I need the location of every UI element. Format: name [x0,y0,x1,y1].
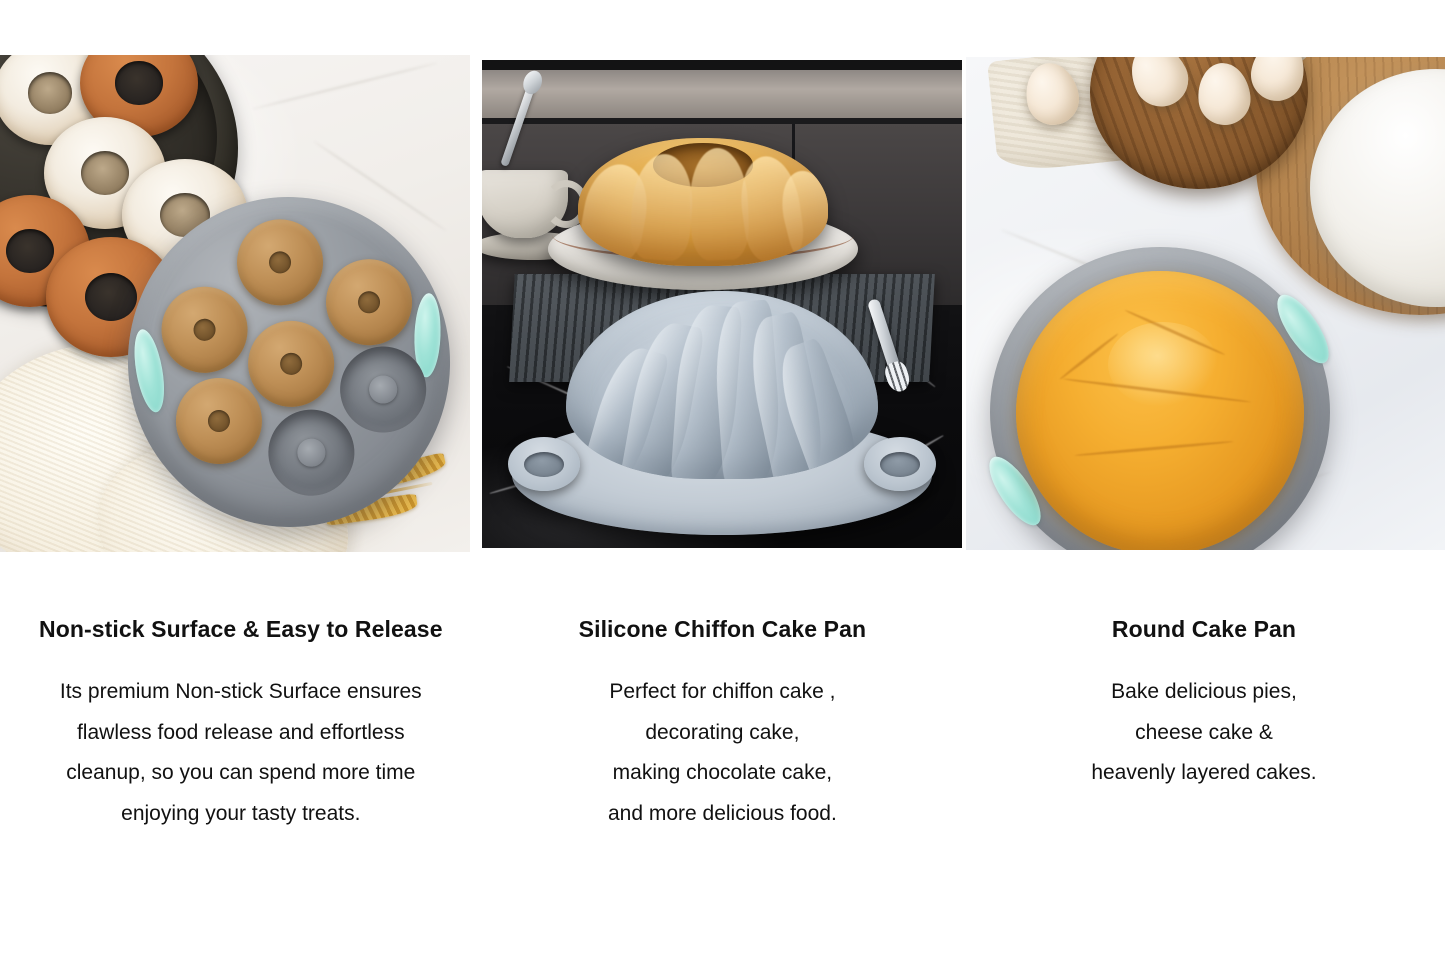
description-line: Bake delicious pies, [977,672,1431,713]
donut-cavity-filled [323,256,415,348]
baked-bundt-cake [578,138,828,266]
baked-round-cake [1016,271,1304,550]
donut-hole [28,72,73,114]
round-cake-pan-photo [966,57,1445,550]
mold-handle-tab-left-icon [508,437,580,491]
wall-band [482,60,962,70]
description-line: making chocolate cake, [496,753,950,794]
donut-cavity-empty [265,407,357,499]
feature-column-round-cake-pan: Round Cake Pan Bake delicious pies, chee… [963,600,1445,860]
mold-handle-tab-right-icon [864,437,936,491]
donut-hole [115,61,162,104]
feature-column-non-stick-surface: Non-stick Surface & Easy to Release Its … [0,600,482,860]
description-line: Perfect for chiffon cake , [496,672,950,713]
feature-title: Round Cake Pan [977,616,1431,644]
product-image-strip [0,0,1445,560]
feature-description: Its premium Non-stick Surface ensures fl… [14,672,468,836]
wall-band-stone [482,70,962,118]
donut-hole [85,273,137,321]
donut-cavity-filled [173,375,265,467]
description-line: decorating cake, [496,713,950,754]
description-line: and more delicious food. [496,794,950,835]
feature-text-row: Non-stick Surface & Easy to Release Its … [0,600,1445,860]
donut-cavity-filled [234,216,326,308]
feature-title: Silicone Chiffon Cake Pan [496,616,950,644]
mold-swirl-dome [566,291,878,479]
donut-hole [81,151,130,196]
description-line: flawless food release and effortless [14,713,468,754]
description-line: Its premium Non-stick Surface ensures [14,672,468,713]
cake-crack [1074,440,1234,457]
donut-hole [6,229,54,274]
donut-cavity-filled [159,284,251,376]
feature-column-silicone-chiffon-cake-pan: Silicone Chiffon Cake Pan Perfect for ch… [482,600,964,860]
product-feature-sheet: Non-stick Surface & Easy to Release Its … [0,0,1445,963]
feature-description: Perfect for chiffon cake , decorating ca… [496,672,950,836]
chiffon-mold-photo [482,60,962,548]
description-line: cleanup, so you can spend more time [14,753,468,794]
silicone-chiffon-mold [512,285,932,535]
feature-title: Non-stick Surface & Easy to Release [14,616,468,644]
feature-description: Bake delicious pies, cheese cake & heave… [977,672,1431,795]
donut-pan-photo [0,55,470,552]
donut-cavity-filled [245,318,337,410]
description-line: enjoying your tasty treats. [14,794,468,835]
description-line: heavenly layered cakes. [977,753,1431,794]
description-line: cheese cake & [977,713,1431,754]
